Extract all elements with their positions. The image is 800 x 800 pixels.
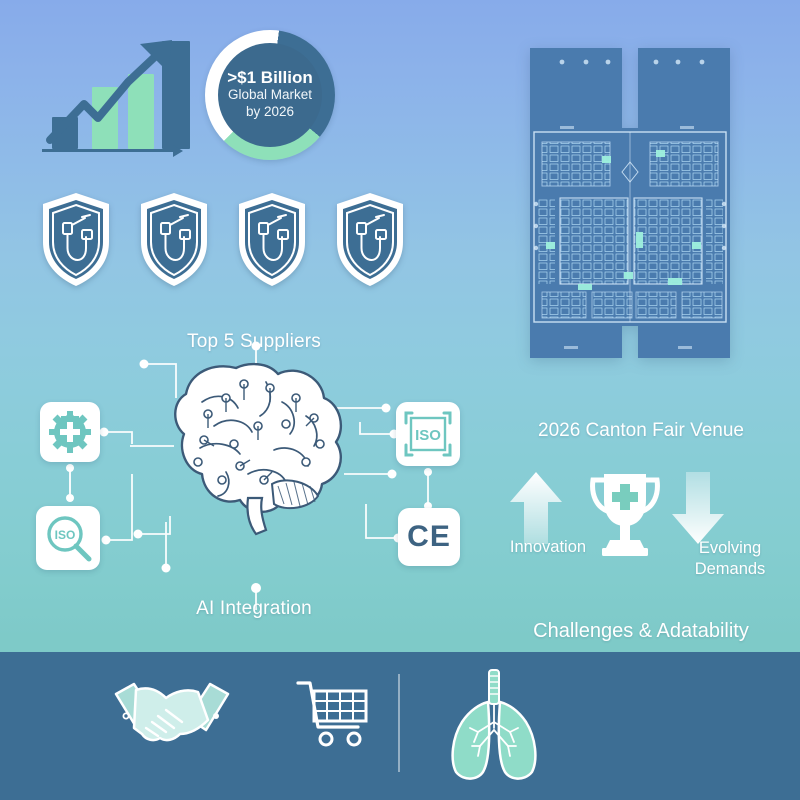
iso-badge-card[interactable]: ISO: [396, 402, 460, 466]
shopping-cart-icon: [296, 675, 374, 756]
trend-arrow-icon: [36, 34, 196, 164]
canton-fair-floorplan: [516, 46, 744, 380]
ai-integration-label: AI Integration: [134, 598, 374, 620]
ce-mark-card[interactable]: CE: [398, 508, 460, 566]
iso-magnifier-icon: ISO: [43, 513, 93, 563]
market-subline-2: by 2026: [246, 104, 294, 121]
ce-mark-label: CE: [407, 520, 451, 554]
iso-badge-icon: ISO: [402, 409, 454, 459]
bottom-bar: Engage Buyers: [0, 652, 800, 800]
gear-cross-card[interactable]: [40, 402, 100, 462]
bottom-bar-divider: [398, 674, 400, 772]
iso-badge-label: ISO: [415, 427, 441, 444]
iso-magnifier-card[interactable]: ISO: [36, 506, 100, 570]
iso-magnifier-label: ISO: [55, 528, 76, 542]
supplier-shield-2: [136, 190, 212, 290]
evolving-line-1: Evolving: [699, 539, 761, 557]
brain-network-diagram: [24, 326, 494, 636]
supplier-shield-3: [234, 190, 310, 290]
supplier-shield-row: [38, 190, 438, 295]
donut-center: >$1 Billion Global Market by 2026: [218, 43, 322, 147]
innovation-label: Innovation: [486, 538, 610, 557]
evolving-line-2: Demands: [695, 560, 766, 578]
supplier-shield-4: [332, 190, 408, 290]
growth-bar-chart: [36, 34, 181, 164]
ai-integration-cluster: Top 5 Suppliers: [24, 326, 494, 636]
infographic-canvas: >$1 Billion Global Market by 2026: [0, 0, 800, 800]
handshake-icon: [112, 672, 232, 769]
market-headline: >$1 Billion: [227, 69, 313, 88]
challenges-section: 2026 Canton Fair Venue: [486, 408, 796, 653]
challenges-title: Challenges & Adatability: [486, 620, 796, 643]
venue-title: 2026 Canton Fair Venue: [486, 420, 796, 442]
lungs-icon: [440, 666, 548, 789]
supplier-shield-1: [38, 190, 114, 290]
evolving-demands-label: Evolving Demands: [666, 538, 794, 579]
market-subline-1: Global Market: [228, 87, 312, 104]
gear-cross-icon: [49, 411, 91, 453]
market-donut-chart: >$1 Billion Global Market by 2026: [205, 30, 335, 160]
